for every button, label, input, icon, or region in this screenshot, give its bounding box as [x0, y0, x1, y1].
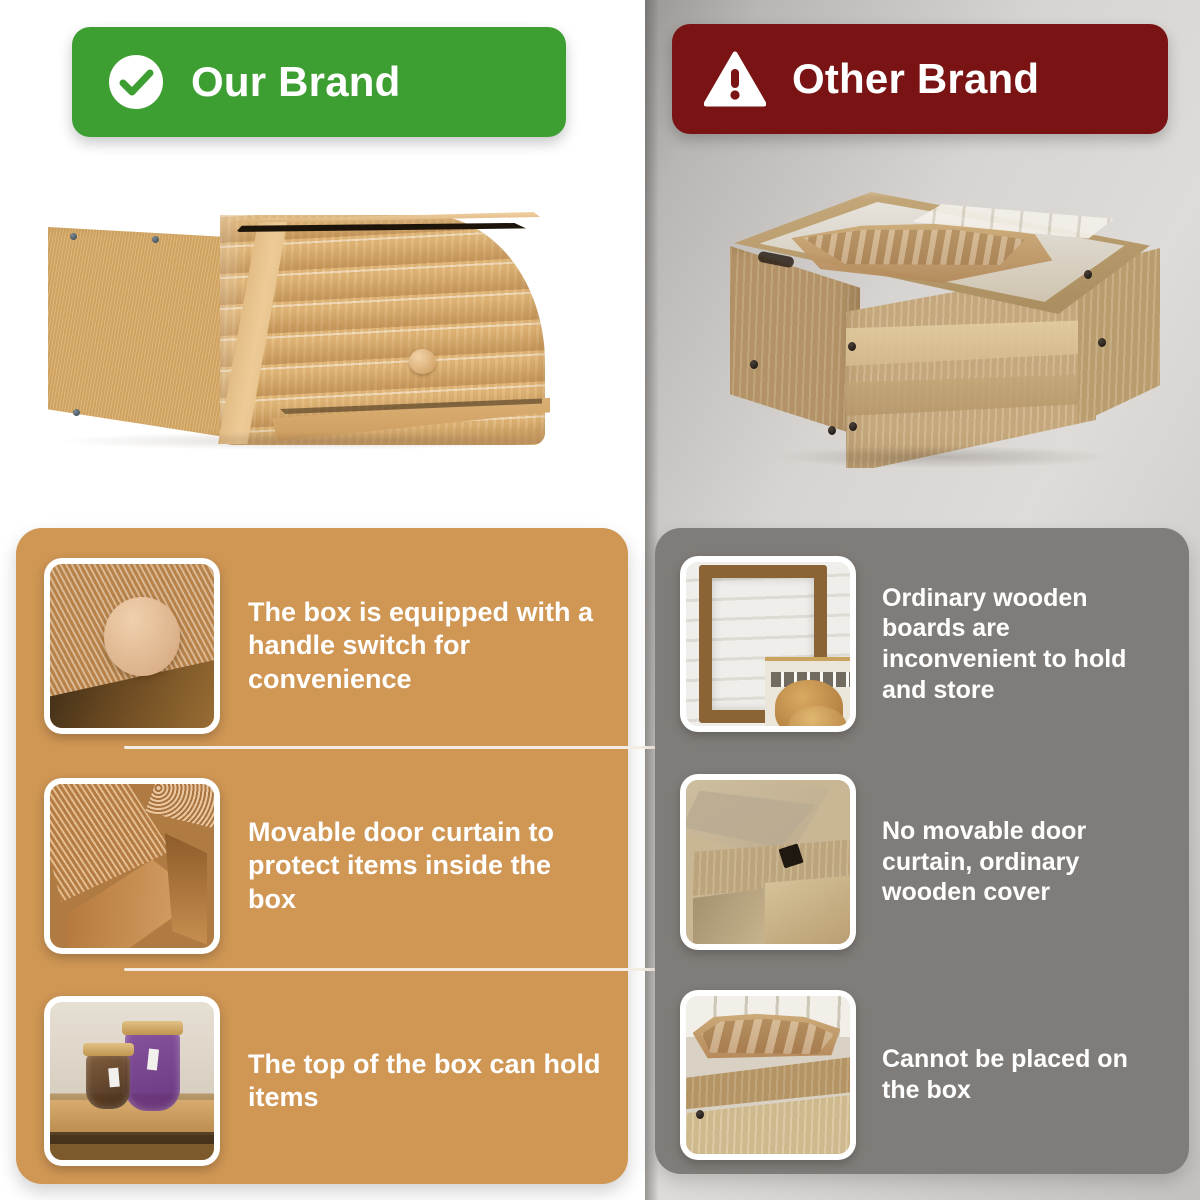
thumbnail-plain-wooden-cover[interactable]	[680, 774, 856, 950]
our-brand-badge-label: Our Brand	[191, 58, 400, 106]
feature-row: Cannot be placed on the box	[680, 990, 1180, 1160]
thumbnail-ordinary-board[interactable]	[680, 556, 856, 732]
thumbnail-handle-knob[interactable]	[44, 558, 220, 734]
thumbnail-storage-jars-on-top[interactable]	[44, 996, 220, 1166]
comparison-infographic: Our Brand Other Brand	[0, 0, 1200, 1200]
feature-text: Ordinary wooden boards are inconvenient …	[882, 583, 1144, 706]
thumbnail-door-curtain[interactable]	[44, 778, 220, 954]
our-brand-product-photo	[40, 196, 560, 466]
other-brand-feature-panel: Ordinary wooden boards are inconvenient …	[655, 528, 1189, 1174]
feature-row: Ordinary wooden boards are inconvenient …	[680, 554, 1180, 734]
feature-row: Movable door curtain to protect items in…	[44, 776, 604, 956]
feature-text: The box is equipped with a handle switch…	[248, 596, 604, 696]
other-brand-badge-label: Other Brand	[792, 55, 1039, 103]
our-brand-badge: Our Brand	[72, 27, 566, 137]
other-brand-badge: Other Brand	[672, 24, 1168, 134]
feature-text: No movable door curtain, ordinary wooden…	[882, 816, 1144, 908]
thumbnail-glass-lid-bread[interactable]	[680, 990, 856, 1160]
feature-text: Movable door curtain to protect items in…	[248, 816, 604, 916]
warning-triangle-icon	[704, 51, 766, 107]
feature-divider	[124, 746, 659, 749]
feature-divider	[124, 968, 659, 971]
feature-row: No movable door curtain, ordinary wooden…	[680, 772, 1180, 952]
check-circle-icon	[107, 53, 165, 111]
other-brand-product-photo	[718, 188, 1170, 468]
feature-text: The top of the box can hold items	[248, 1048, 604, 1114]
feature-row: The top of the box can hold items	[44, 996, 604, 1166]
feature-text: Cannot be placed on the box	[882, 1044, 1144, 1106]
feature-row: The box is equipped with a handle switch…	[44, 556, 604, 736]
our-brand-feature-panel: The box is equipped with a handle switch…	[16, 528, 628, 1184]
